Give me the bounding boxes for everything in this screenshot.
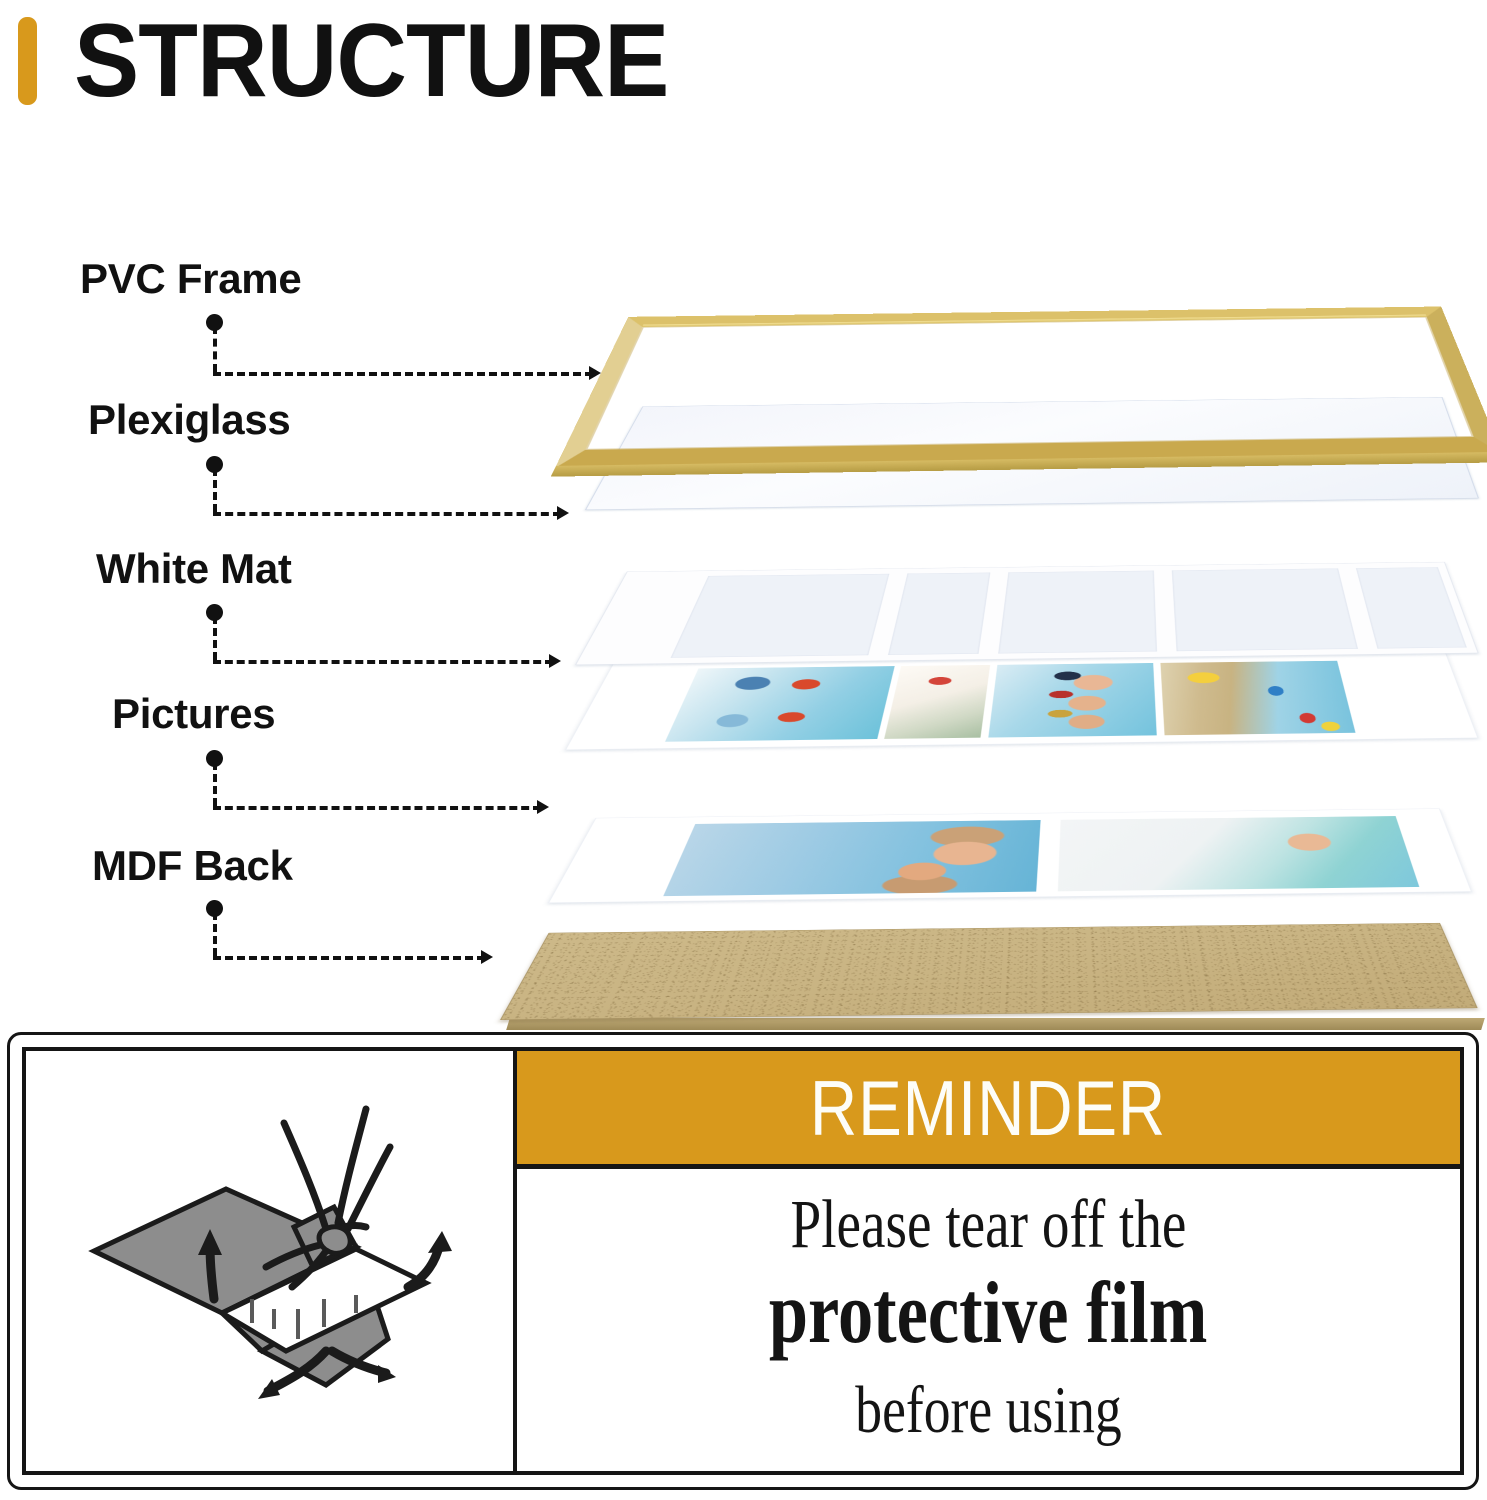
mat-window-4 — [1172, 568, 1358, 651]
callout-arrow-white-mat — [549, 654, 561, 668]
arrow-down-right-head — [378, 1365, 396, 1383]
callout-label-mdf-back: MDF Back — [92, 842, 293, 890]
callout-hline-pvc-frame — [213, 372, 593, 376]
structure-infographic-page: STRUCTURE — [0, 0, 1487, 1500]
reminder-line-2-emphasis: protective film — [769, 1264, 1208, 1364]
reminder-text-column: REMINDER Please tear off the protective … — [517, 1051, 1460, 1471]
callout-vline-pictures — [213, 762, 217, 806]
reminder-panel-inner-border: REMINDER Please tear off the protective … — [22, 1047, 1464, 1475]
callout-arrow-plexiglass — [557, 506, 569, 520]
callout-vline-mdf-back — [213, 912, 217, 956]
pvc-frame-body — [555, 307, 1487, 468]
callout-arrow-pictures — [537, 800, 549, 814]
reminder-body: Please tear off the protective film befo… — [517, 1169, 1460, 1471]
photo-prints-sheet-upper — [565, 653, 1478, 750]
callout-label-pvc-frame: PVC Frame — [80, 255, 301, 303]
reminder-line-3: before using — [855, 1370, 1121, 1450]
mat-window-2 — [888, 573, 990, 655]
title-accent-bar — [18, 17, 37, 105]
callout-arrow-pvc-frame — [589, 366, 601, 380]
page-title: STRUCTURE — [74, 5, 668, 117]
callout-vline-pvc-frame — [213, 326, 217, 372]
reminder-header-label: REMINDER — [810, 1068, 1166, 1148]
callout-hline-white-mat — [213, 660, 553, 664]
callout-hline-plexiglass — [213, 512, 561, 516]
gold-pvc-frame-layer — [555, 138, 1487, 468]
pinch-grip — [319, 1227, 350, 1254]
reminder-header-bar: REMINDER — [517, 1051, 1460, 1169]
mat-window-3 — [998, 571, 1157, 654]
pvc-frame-moulding — [555, 307, 1487, 468]
mdf-board-face — [500, 923, 1478, 1020]
photo-child-red-pattern-top — [884, 665, 990, 739]
white-mat-face — [575, 562, 1479, 665]
callout-arrow-mdf-back — [481, 950, 493, 964]
callout-hline-mdf-back — [213, 956, 485, 960]
callout-label-white-mat: White Mat — [96, 545, 292, 593]
photo-mother-and-child-sun-hats — [663, 820, 1040, 896]
peel-film-illustration-svg — [26, 1051, 513, 1469]
exploded-frame-diagram: PVC Frame Plexiglass White Mat Pictures — [0, 130, 1487, 1020]
photo-sandcastle-with-flags — [1160, 661, 1355, 735]
mat-window-5 — [1356, 567, 1467, 648]
arrow-up-right-head — [428, 1231, 452, 1253]
callout-label-plexiglass: Plexiglass — [88, 396, 290, 444]
callout-hline-pictures — [213, 806, 541, 810]
photo-kids-with-sunglasses — [988, 663, 1156, 738]
reminder-line-1: Please tear off the — [791, 1184, 1187, 1264]
peel-protective-film-icon — [26, 1051, 513, 1471]
callout-vline-plexiglass — [213, 468, 217, 512]
reminder-panel: REMINDER Please tear off the protective … — [7, 1032, 1479, 1490]
mat-window-1 — [671, 574, 890, 658]
callout-label-pictures: Pictures — [112, 690, 275, 738]
callout-vline-white-mat — [213, 616, 217, 660]
photo-beach-family-starfish — [665, 666, 895, 742]
page-title-row: STRUCTURE — [0, 0, 1487, 130]
photo-girl-white-dress-sunglasses — [1058, 816, 1420, 891]
photo-prints-sheet-lower — [548, 808, 1472, 903]
mdf-board-edge — [506, 1018, 1485, 1030]
